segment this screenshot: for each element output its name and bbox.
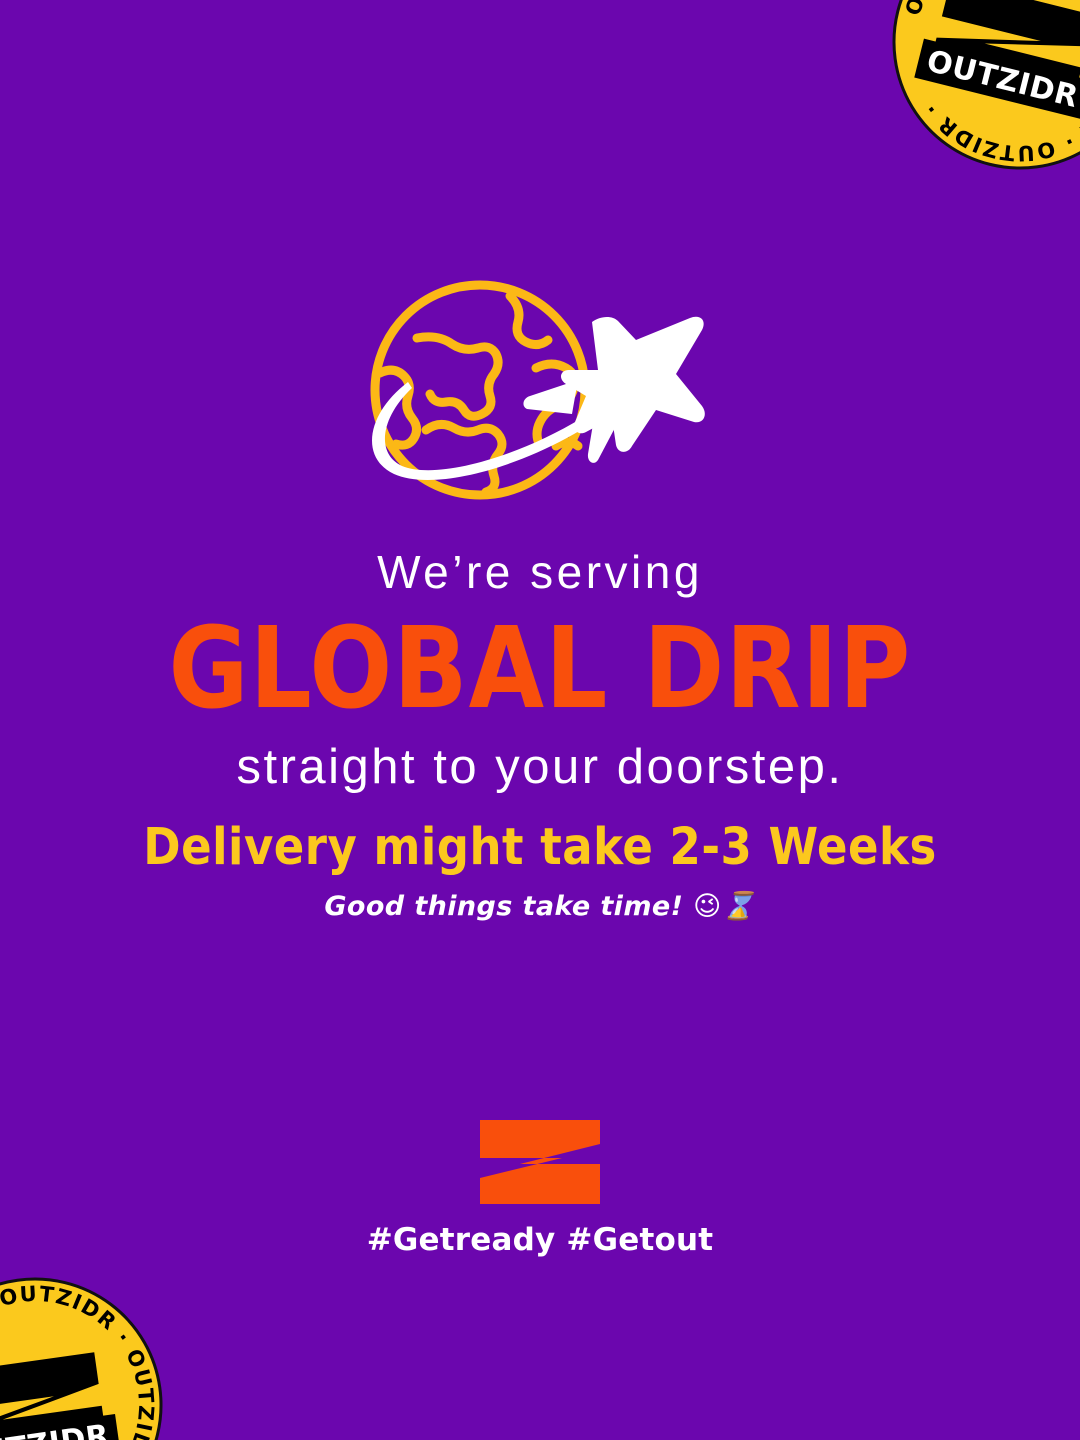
outzidr-z-logo <box>478 1120 602 1204</box>
delivery-notice: Delivery might take 2-3 Weeks <box>0 818 1080 876</box>
hashtags-text: #Getready #Getout <box>0 1222 1080 1258</box>
delivery-block: Delivery might take 2-3 Weeks Good thing… <box>0 818 1080 922</box>
outzidr-sticker-bottom-left: OUTZIDR · OUTZIDR · OUTZIDR · OUTZIDR · … <box>0 1258 182 1440</box>
headline-block: We’re serving GLOBAL DRIP straight to yo… <box>0 548 1080 795</box>
promo-poster: OUTZIDR · OUTZIDR · OUTZIDR · OUTZIDR · … <box>0 0 1080 1440</box>
globe-airplane-illustration <box>360 278 710 513</box>
brand-footer: #Getready #Getout <box>0 1120 1080 1258</box>
delivery-tagline: Good things take time! 😉⌛ <box>0 890 1080 922</box>
eyebrow-text: We’re serving <box>0 548 1080 598</box>
page-title: GLOBAL DRIP <box>0 608 1080 729</box>
subhead-text: straight to your doorstep. <box>0 741 1080 795</box>
outzidr-sticker-top-right: OUTZIDR · OUTZIDR · OUTZIDR · OUTZIDR · … <box>862 0 1080 200</box>
